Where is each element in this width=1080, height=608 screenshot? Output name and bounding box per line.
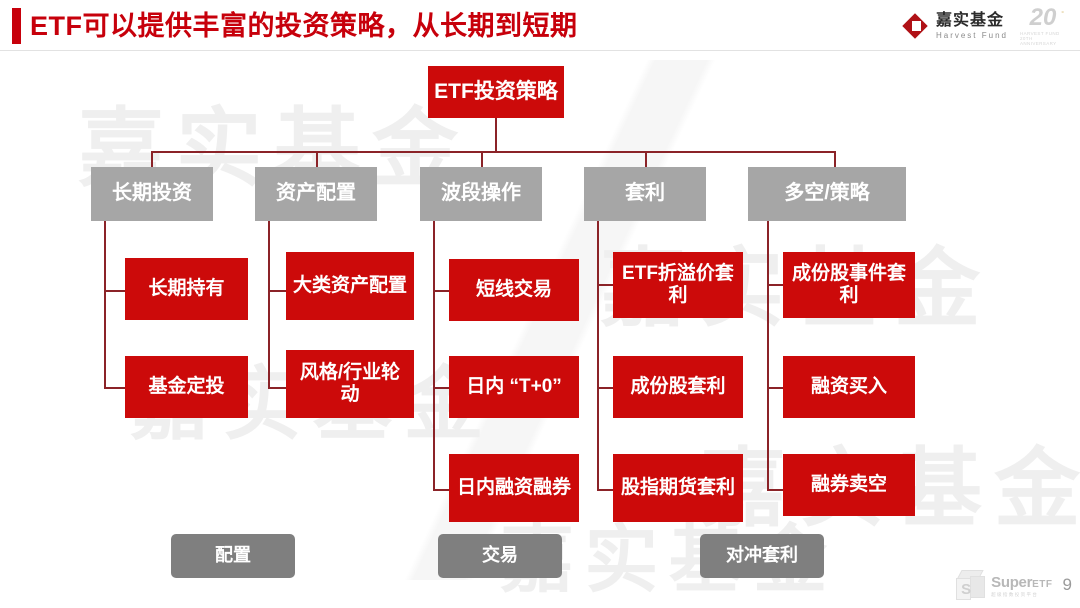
node-item-5-2[interactable]: 融资买入 <box>783 356 915 418</box>
harvest-diamond-icon <box>902 13 928 39</box>
node-item-3-2[interactable]: 日内 “T+0” <box>449 356 579 418</box>
anniversary-badge-icon: ° 20 HARVEST FUND 20TH ANNIVERSARY <box>1020 9 1066 43</box>
connector-branch-3-3 <box>433 489 449 491</box>
connector-drop-cat-4 <box>645 151 647 167</box>
connector-trunk-4 <box>597 221 599 489</box>
super-etf-logo-main: Super <box>991 574 1032 591</box>
connector-branch-2-2 <box>268 387 286 389</box>
node-item-3-1[interactable]: 短线交易 <box>449 259 579 321</box>
brand-name-cn: 嘉实基金 <box>936 13 1008 29</box>
connector-branch-5-3 <box>767 489 783 491</box>
brand-name-en: Harvest Fund <box>936 32 1008 40</box>
page-number: 9 <box>1063 575 1072 597</box>
node-item-1-2[interactable]: 基金定投 <box>125 356 248 418</box>
node-category-2[interactable]: 资产配置 <box>255 167 377 221</box>
node-item-4-1[interactable]: ETF折溢价套利 <box>613 252 743 318</box>
super-etf-logo-sub: 超级指数投资平台 <box>991 593 1052 598</box>
node-category-4[interactable]: 套利 <box>584 167 706 221</box>
node-item-1-1[interactable]: 长期持有 <box>125 258 248 320</box>
connector-branch-3-2 <box>433 387 449 389</box>
connector-trunk-2 <box>268 221 270 387</box>
brand-logo: 嘉实基金 Harvest Fund ° 20 HARVEST FUND 20TH… <box>902 6 1066 46</box>
node-item-5-3[interactable]: 融券卖空 <box>783 454 915 516</box>
connector-trunk-3 <box>433 221 435 489</box>
super-etf-logo: S SuperETF 超级指数投资平台 <box>956 570 1052 602</box>
connector-drop-cat-1 <box>151 151 153 167</box>
connector-drop-cat-3 <box>481 151 483 167</box>
slide-root: 嘉实基金 嘉实基金 嘉实基金 嘉实基金 嘉实基金 ETF可以提供丰富的投资策略，… <box>0 0 1080 608</box>
connector-branch-5-2 <box>767 387 783 389</box>
title-accent-bar <box>12 8 21 44</box>
connector-branch-1-2 <box>104 387 125 389</box>
node-item-2-1[interactable]: 大类资产配置 <box>286 252 414 320</box>
node-category-5[interactable]: 多空/策略 <box>748 167 906 221</box>
degree-mark: ° <box>1061 11 1064 18</box>
connector-trunk-5 <box>767 221 769 489</box>
connector-branch-4-1 <box>597 284 613 286</box>
node-root[interactable]: ETF投资策略 <box>428 66 564 118</box>
connector-root-stem <box>495 118 497 151</box>
connector-branch-5-1 <box>767 284 783 286</box>
connector-drop-cat-2 <box>316 151 318 167</box>
node-item-2-2[interactable]: 风格/行业轮动 <box>286 350 414 418</box>
group-label-allocation[interactable]: 配置 <box>171 534 295 578</box>
connector-branch-1-1 <box>104 290 125 292</box>
node-item-3-3[interactable]: 日内融资融券 <box>449 454 579 522</box>
super-etf-logo-suffix: ETF <box>1032 579 1052 590</box>
node-item-4-2[interactable]: 成份股套利 <box>613 356 743 418</box>
anniversary-subtext: HARVEST FUND 20TH ANNIVERSARY <box>1020 31 1066 46</box>
group-label-trading[interactable]: 交易 <box>438 534 562 578</box>
connector-branch-4-2 <box>597 387 613 389</box>
group-label-hedging-arbitrage[interactable]: 对冲套利 <box>700 534 824 578</box>
connector-main-bus <box>151 151 835 153</box>
slide-footer: S SuperETF 超级指数投资平台 9 <box>956 570 1072 602</box>
connector-branch-3-1 <box>433 290 449 292</box>
connector-trunk-1 <box>104 221 106 387</box>
node-category-1[interactable]: 长期投资 <box>91 167 213 221</box>
header-divider <box>0 50 1080 51</box>
page-title: ETF可以提供丰富的投资策略，从长期到短期 <box>30 8 578 44</box>
node-item-5-1[interactable]: 成份股事件套利 <box>783 252 915 318</box>
connector-branch-2-1 <box>268 290 286 292</box>
slide-header: ETF可以提供丰富的投资策略，从长期到短期 嘉实基金 Harvest Fund … <box>0 0 1080 52</box>
connector-drop-cat-5 <box>834 151 836 167</box>
connector-branch-4-3 <box>597 489 613 491</box>
strategy-tree-diagram: ETF投资策略 长期投资 资产配置 波段操作 套利 多空/策略 长期持有 基金定… <box>0 52 1080 552</box>
node-item-4-3[interactable]: 股指期货套利 <box>613 454 743 522</box>
cube-icon: S <box>956 570 986 602</box>
node-category-3[interactable]: 波段操作 <box>420 167 542 221</box>
anniversary-number: 20 <box>1030 6 1057 30</box>
